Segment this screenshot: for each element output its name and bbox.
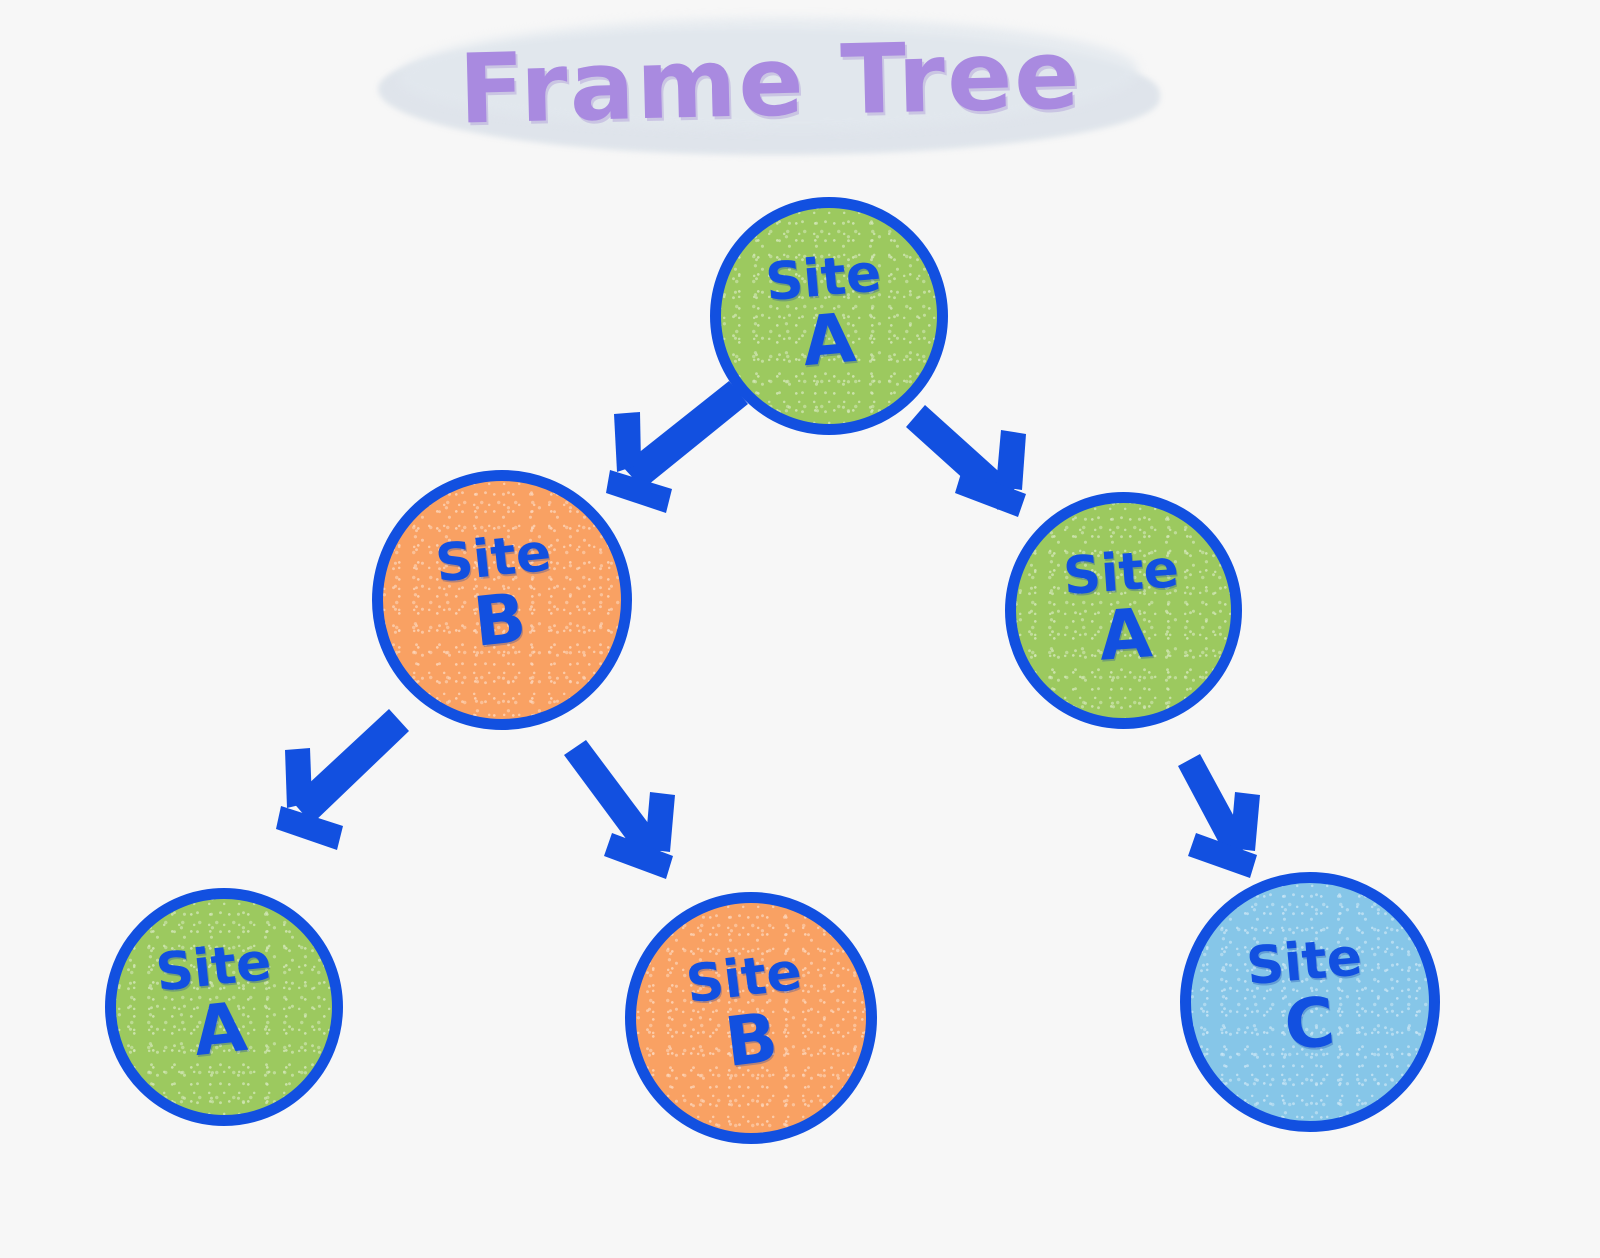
node-label: Site A xyxy=(764,250,889,379)
page-title: Frame Tree xyxy=(370,12,1170,167)
node-site-a-bottom-left[interactable]: Site A xyxy=(105,888,343,1126)
diagram-canvas: Frame Tree xyxy=(0,0,1600,1258)
node-letter-text: A xyxy=(1065,599,1185,672)
node-letter-text: C xyxy=(1250,987,1371,1062)
node-site-a-right[interactable]: Site A xyxy=(1005,492,1242,729)
node-label: Site A xyxy=(154,938,281,1069)
edge-arrow-b-left-to-a-bottom-left xyxy=(276,709,409,850)
node-label: Site B xyxy=(684,948,813,1080)
edge-arrow-b-left-to-b-bottom-middle xyxy=(564,740,675,879)
node-letter-text: B xyxy=(439,583,561,660)
node-label: Site C xyxy=(1245,934,1370,1063)
edge-arrow-root-to-a-right xyxy=(906,405,1026,517)
node-label: Site A xyxy=(1062,545,1185,672)
edge-arrow-root-to-b-left xyxy=(606,381,748,513)
node-letter-text: B xyxy=(691,1002,813,1081)
node-letter-text: A xyxy=(160,992,282,1069)
title-text: Frame Tree xyxy=(369,16,1171,148)
node-label: Site B xyxy=(434,529,561,660)
node-letter-text: A xyxy=(769,303,890,378)
node-site-b-bottom-middle[interactable]: Site B xyxy=(625,892,877,1144)
node-root-site-a[interactable]: Site A xyxy=(710,197,948,435)
node-site-c-bottom-right[interactable]: Site C xyxy=(1180,872,1440,1132)
node-site-text: Site xyxy=(1062,545,1181,603)
node-site-b-left[interactable]: Site B xyxy=(372,470,632,730)
edge-arrow-a-right-to-c-bottom-right xyxy=(1178,754,1260,878)
